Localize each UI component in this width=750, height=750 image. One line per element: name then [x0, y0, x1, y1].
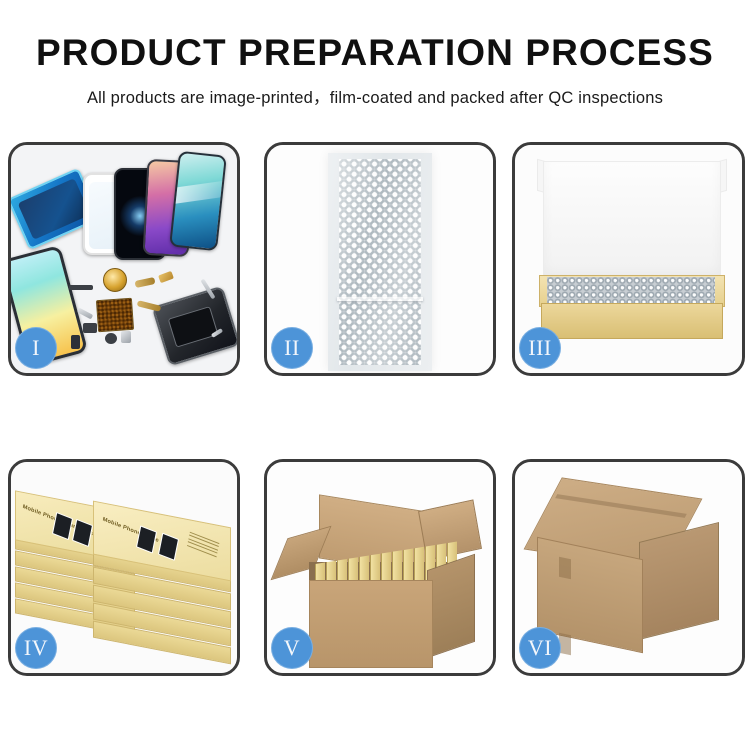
retail-box-stack-right: Mobile Phone Spare Parts: [93, 514, 233, 672]
step-panel-6[interactable]: VI: [512, 459, 745, 676]
box-artwork-screen-1: [136, 525, 157, 553]
step-numeral-2: II: [284, 335, 300, 361]
carton-tape-mark-top: [559, 557, 571, 580]
step-image-carton-sealed: VI: [515, 462, 742, 673]
page-subtitle: All products are image-printed，film-coat…: [0, 84, 750, 108]
bubble-wrapped-contents: [547, 277, 715, 303]
copper-coil-part: [103, 268, 127, 292]
step-badge-1: I: [15, 327, 57, 369]
step-image-retail-boxes: Mobile Phone Spare Parts Mobile Phone Sp…: [11, 462, 237, 673]
step-panel-4[interactable]: Mobile Phone Spare Parts Mobile Phone Sp…: [8, 459, 240, 676]
carton-side-panel: [639, 522, 719, 640]
step-image-inner-box: III: [515, 145, 742, 373]
step-numeral-5: V: [284, 635, 300, 661]
carton-side-panel: [427, 554, 475, 659]
step-badge-3: III: [519, 327, 561, 369]
step-numeral-6: VI: [528, 635, 552, 661]
box-artwork-screen-2: [158, 533, 179, 561]
step-badge-6: VI: [519, 627, 561, 669]
bubble-wrap-bubbles: [339, 159, 421, 365]
phone-teal-gradient: [169, 151, 227, 251]
bubble-wrap-seam: [337, 297, 423, 301]
box-spec-lines: [187, 532, 220, 559]
step-numeral-4: IV: [24, 635, 48, 661]
step-image-products: I: [11, 145, 237, 373]
box-tray-front-panel: [541, 303, 723, 339]
box-artwork-screen-1: [52, 512, 73, 540]
step-badge-4: IV: [15, 627, 57, 669]
step-panel-3[interactable]: III: [512, 142, 745, 376]
part-ic-chip-1: [83, 323, 97, 333]
step-panel-2[interactable]: II: [264, 142, 496, 376]
carton-tape-mark-bottom: [559, 633, 571, 656]
step-panel-1[interactable]: I: [8, 142, 240, 376]
step-badge-5: V: [271, 627, 313, 669]
part-sim-tray: [121, 331, 131, 343]
box-artwork-screen-2: [72, 519, 93, 547]
step-image-bubble-wrap: II: [267, 145, 493, 373]
step-badge-2: II: [271, 327, 313, 369]
step-image-carton-filling: V: [267, 462, 493, 673]
box-lid-open-white: [543, 161, 721, 281]
step-panel-5[interactable]: V: [264, 459, 496, 676]
product-preparation-infographic: PRODUCT PREPARATION PROCESS All products…: [0, 0, 750, 750]
part-speaker: [105, 333, 117, 344]
step-numeral-3: III: [528, 335, 551, 361]
gold-grid-chip: [96, 298, 134, 332]
step-numeral-1: I: [32, 335, 40, 361]
part-camera-module: [71, 335, 80, 349]
part-strip-1: [69, 285, 93, 290]
carton-front-panel: [309, 580, 433, 668]
page-title: PRODUCT PREPARATION PROCESS: [0, 32, 750, 74]
